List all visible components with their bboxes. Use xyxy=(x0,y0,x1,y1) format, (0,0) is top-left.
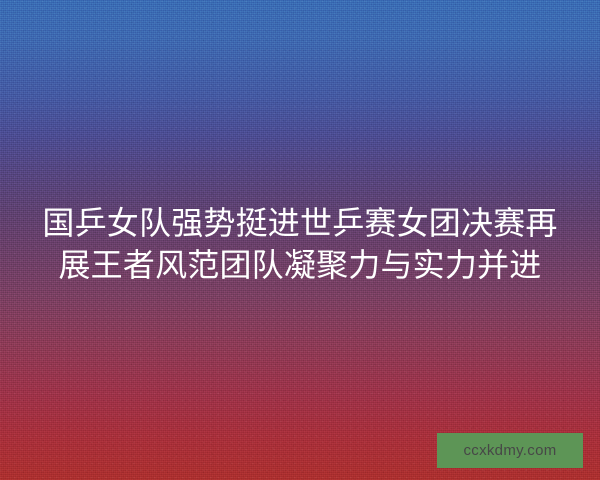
watermark-badge: ccxkdmy.com xyxy=(437,433,583,468)
poster-canvas: 国乒女队强势挺进世乒赛女团决赛再展王者风范团队凝聚力与实力并进 ccxkdmy.… xyxy=(0,0,600,480)
watermark-label: ccxkdmy.com xyxy=(463,442,556,459)
headline-text: 国乒女队强势挺进世乒赛女团决赛再展王者风范团队凝聚力与实力并进 xyxy=(28,202,572,286)
